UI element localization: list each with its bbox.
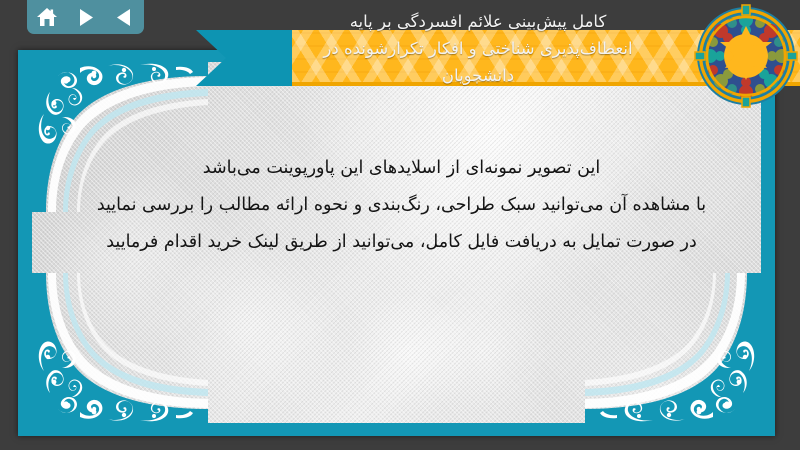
triangle-right-icon bbox=[77, 8, 94, 27]
previous-slide-button[interactable] bbox=[110, 4, 140, 30]
presentation-viewer: این تصویر نمونه‌ای از اسلایدهای این پاور… bbox=[0, 0, 800, 450]
next-slide-button[interactable] bbox=[71, 4, 101, 30]
body-line: این تصویر نمونه‌ای از اسلایدهای این پاور… bbox=[72, 150, 731, 187]
home-button[interactable] bbox=[32, 4, 62, 30]
slide-body-text: این تصویر نمونه‌ای از اسلایدهای این پاور… bbox=[72, 150, 731, 261]
home-icon bbox=[36, 7, 58, 28]
navigation-bar bbox=[27, 0, 144, 34]
triangle-left-icon bbox=[116, 8, 133, 27]
slide-canvas: این تصویر نمونه‌ای از اسلایدهای این پاور… bbox=[32, 62, 761, 423]
arabesque-ornament-icon bbox=[585, 273, 761, 423]
slide-frame: این تصویر نمونه‌ای از اسلایدهای این پاور… bbox=[18, 50, 775, 436]
body-line: در صورت تمایل به دریافت فایل کامل، می‌تو… bbox=[72, 224, 731, 261]
persian-medallion-icon bbox=[694, 4, 798, 108]
body-line: با مشاهده آن می‌توانید سبک طراحی، رنگ‌بن… bbox=[72, 187, 731, 224]
arabesque-ornament-icon bbox=[32, 273, 208, 423]
